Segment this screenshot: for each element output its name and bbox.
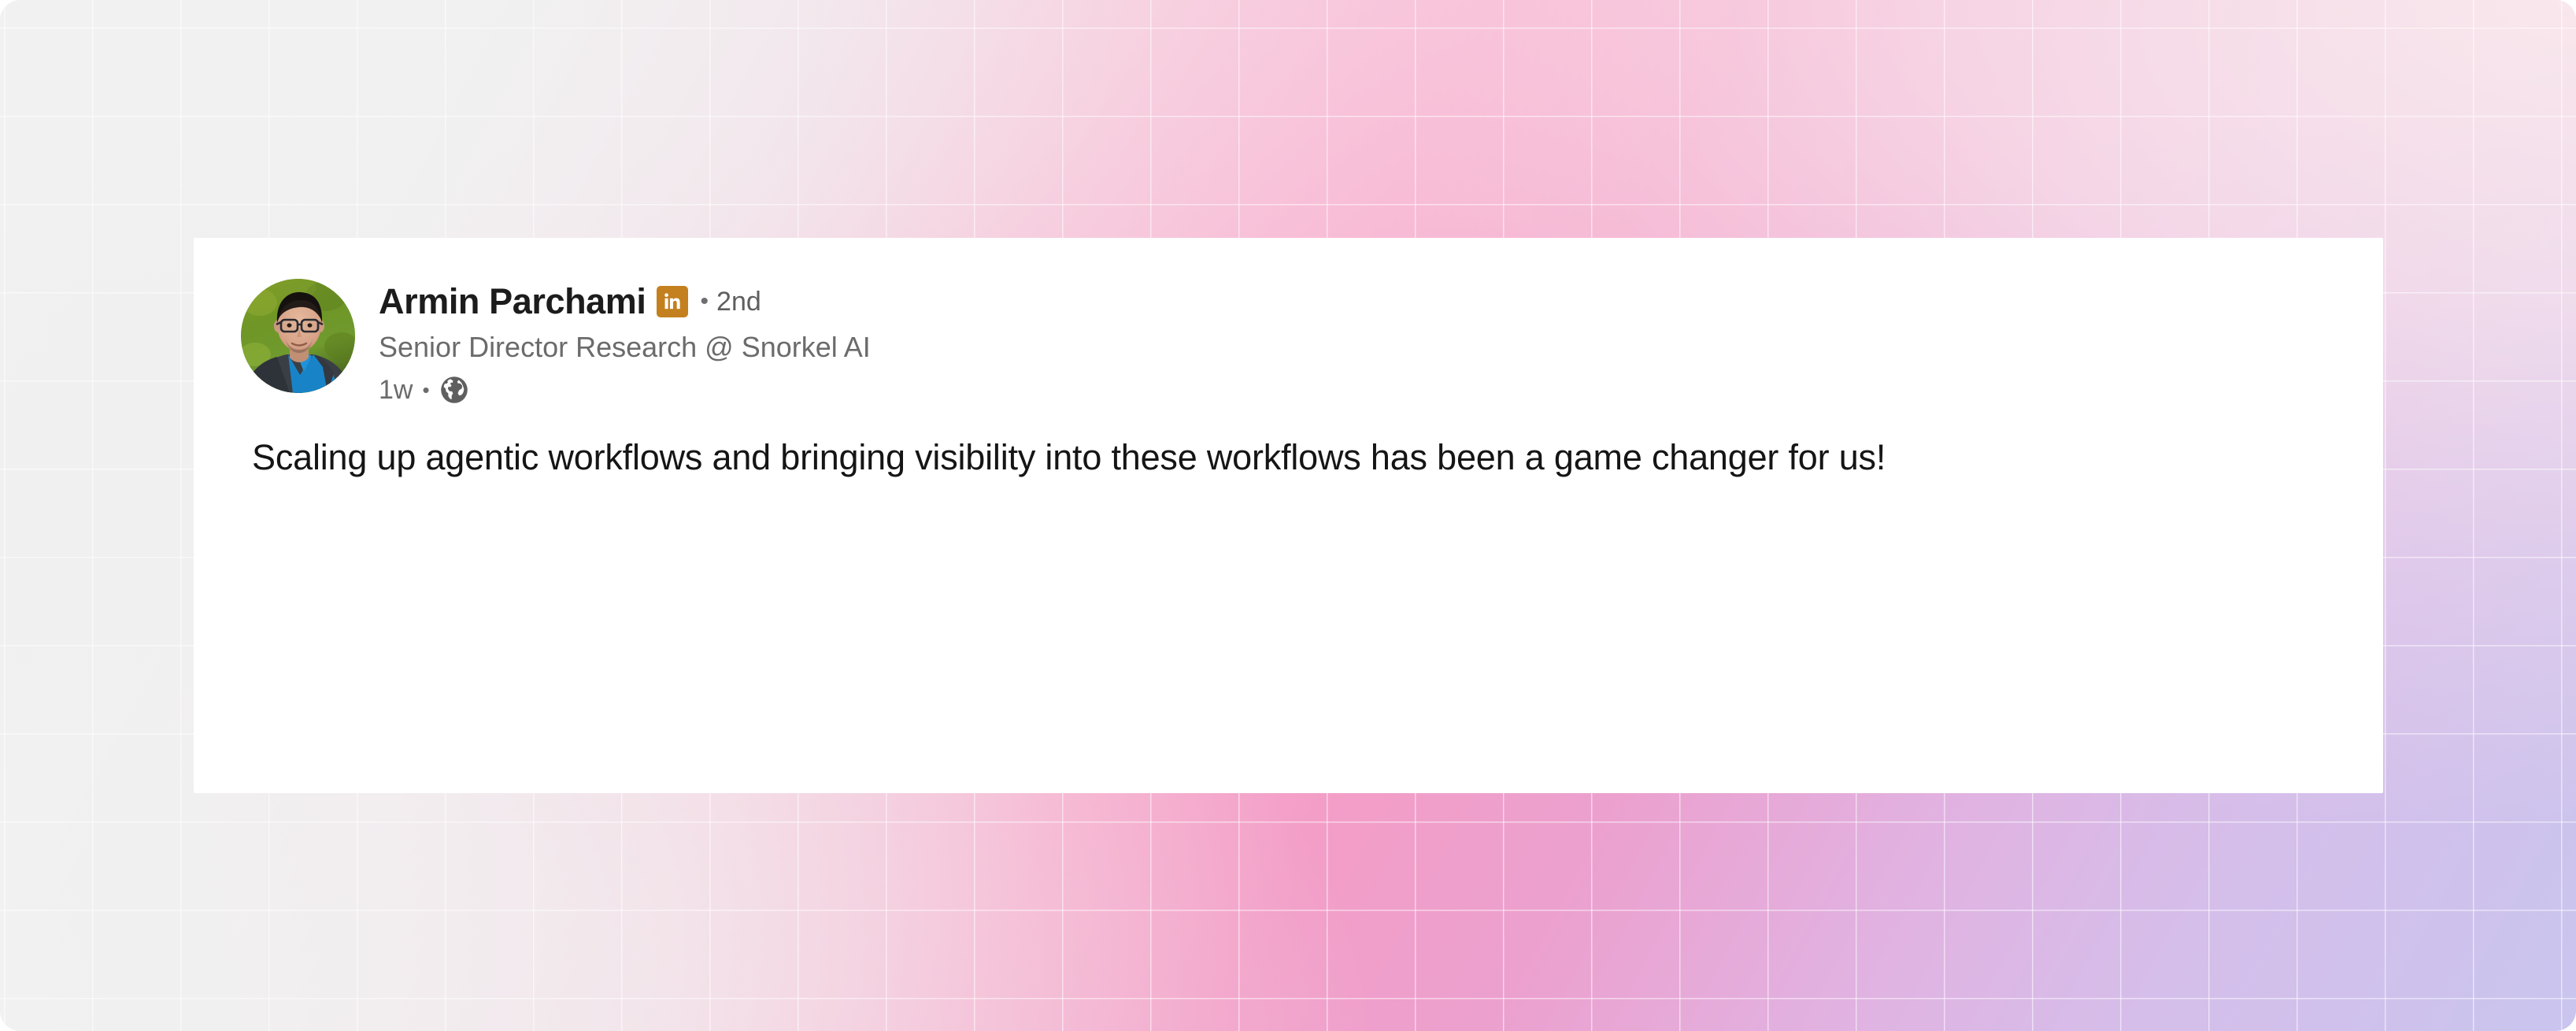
post-meta-row: 1w • <box>379 375 871 405</box>
name-separator-dot: • <box>701 290 709 313</box>
post-header: Armin Parchami • 2nd Senior Director Res… <box>241 279 2336 405</box>
meta-separator-dot: • <box>422 380 429 400</box>
author-info: Armin Parchami • 2nd Senior Director Res… <box>379 279 871 405</box>
gradient-canvas: Armin Parchami • 2nd Senior Director Res… <box>0 0 2576 1031</box>
globe-icon <box>439 375 469 405</box>
post-body-text: Scaling up agentic workflows and bringin… <box>241 435 2288 481</box>
connection-degree: 2nd <box>716 288 761 315</box>
post-timestamp: 1w <box>379 376 413 403</box>
author-name[interactable]: Armin Parchami <box>379 284 646 319</box>
linkedin-badge-icon <box>657 286 688 317</box>
avatar[interactable] <box>241 279 355 393</box>
linkedin-post-card: Armin Parchami • 2nd Senior Director Res… <box>194 238 2383 793</box>
author-headline: Senior Director Research @ Snorkel AI <box>379 331 871 364</box>
author-name-row: Armin Parchami • 2nd <box>379 284 871 319</box>
